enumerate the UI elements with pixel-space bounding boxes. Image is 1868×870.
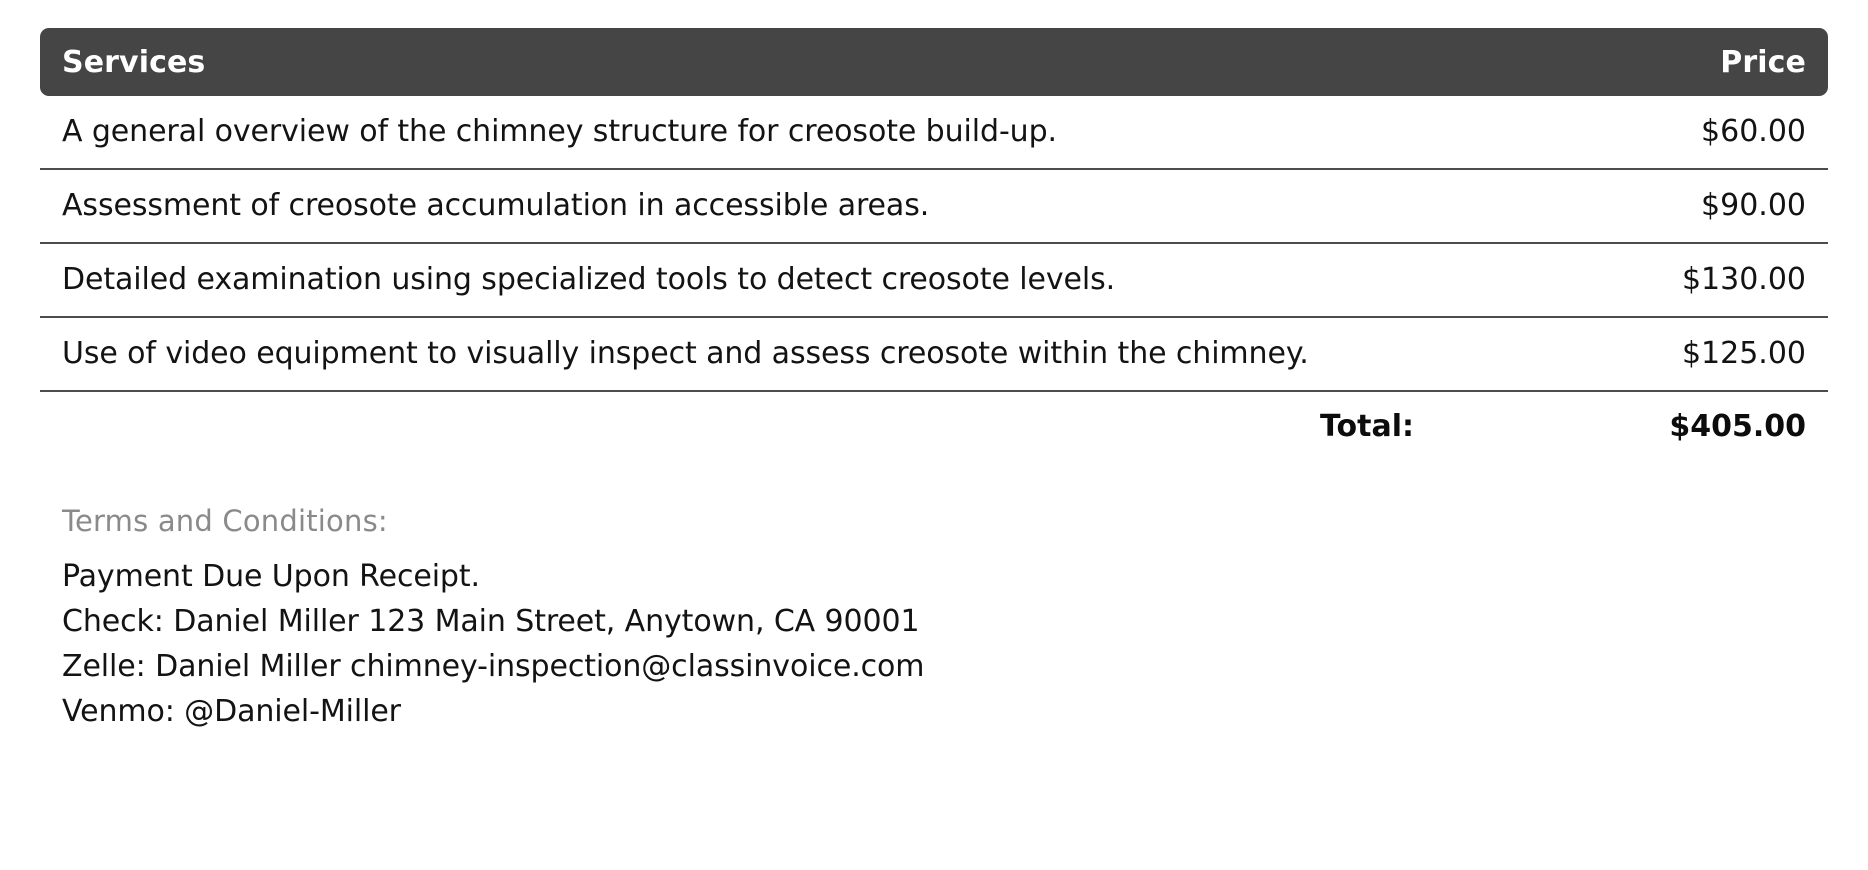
- terms-line-check: Check: Daniel Miller 123 Main Street, An…: [62, 599, 1828, 644]
- service-price: $90.00: [1484, 169, 1828, 243]
- service-description: A general overview of the chimney struct…: [40, 96, 1484, 169]
- column-header-price: Price: [1484, 28, 1828, 96]
- service-description: Use of video equipment to visually inspe…: [40, 317, 1484, 391]
- services-table: Services Price A general overview of the…: [40, 28, 1828, 452]
- table-row: Assessment of creosote accumulation in a…: [40, 169, 1828, 243]
- column-header-services: Services: [40, 28, 1484, 96]
- service-price: $125.00: [1484, 317, 1828, 391]
- table-row: Use of video equipment to visually inspe…: [40, 317, 1828, 391]
- service-description: Detailed examination using specialized t…: [40, 243, 1484, 317]
- services-table-header: Services Price: [40, 28, 1828, 96]
- terms-heading: Terms and Conditions:: [62, 504, 1828, 538]
- terms-line-zelle: Zelle: Daniel Miller chimney-inspection@…: [62, 644, 1828, 689]
- table-row: Detailed examination using specialized t…: [40, 243, 1828, 317]
- service-price: $60.00: [1484, 96, 1828, 169]
- terms-line-venmo: Venmo: @Daniel-Miller: [62, 689, 1828, 734]
- total-label: Total:: [40, 391, 1484, 452]
- terms-line-payment-due: Payment Due Upon Receipt.: [62, 554, 1828, 599]
- terms-and-conditions-section: Terms and Conditions: Payment Due Upon R…: [40, 504, 1828, 734]
- services-table-body: A general overview of the chimney struct…: [40, 96, 1828, 452]
- service-description: Assessment of creosote accumulation in a…: [40, 169, 1484, 243]
- table-total-row: Total: $405.00: [40, 391, 1828, 452]
- table-header-row: Services Price: [40, 28, 1828, 96]
- table-row: A general overview of the chimney struct…: [40, 96, 1828, 169]
- invoice-services-section: Services Price A general overview of the…: [0, 0, 1868, 870]
- total-value: $405.00: [1484, 391, 1828, 452]
- service-price: $130.00: [1484, 243, 1828, 317]
